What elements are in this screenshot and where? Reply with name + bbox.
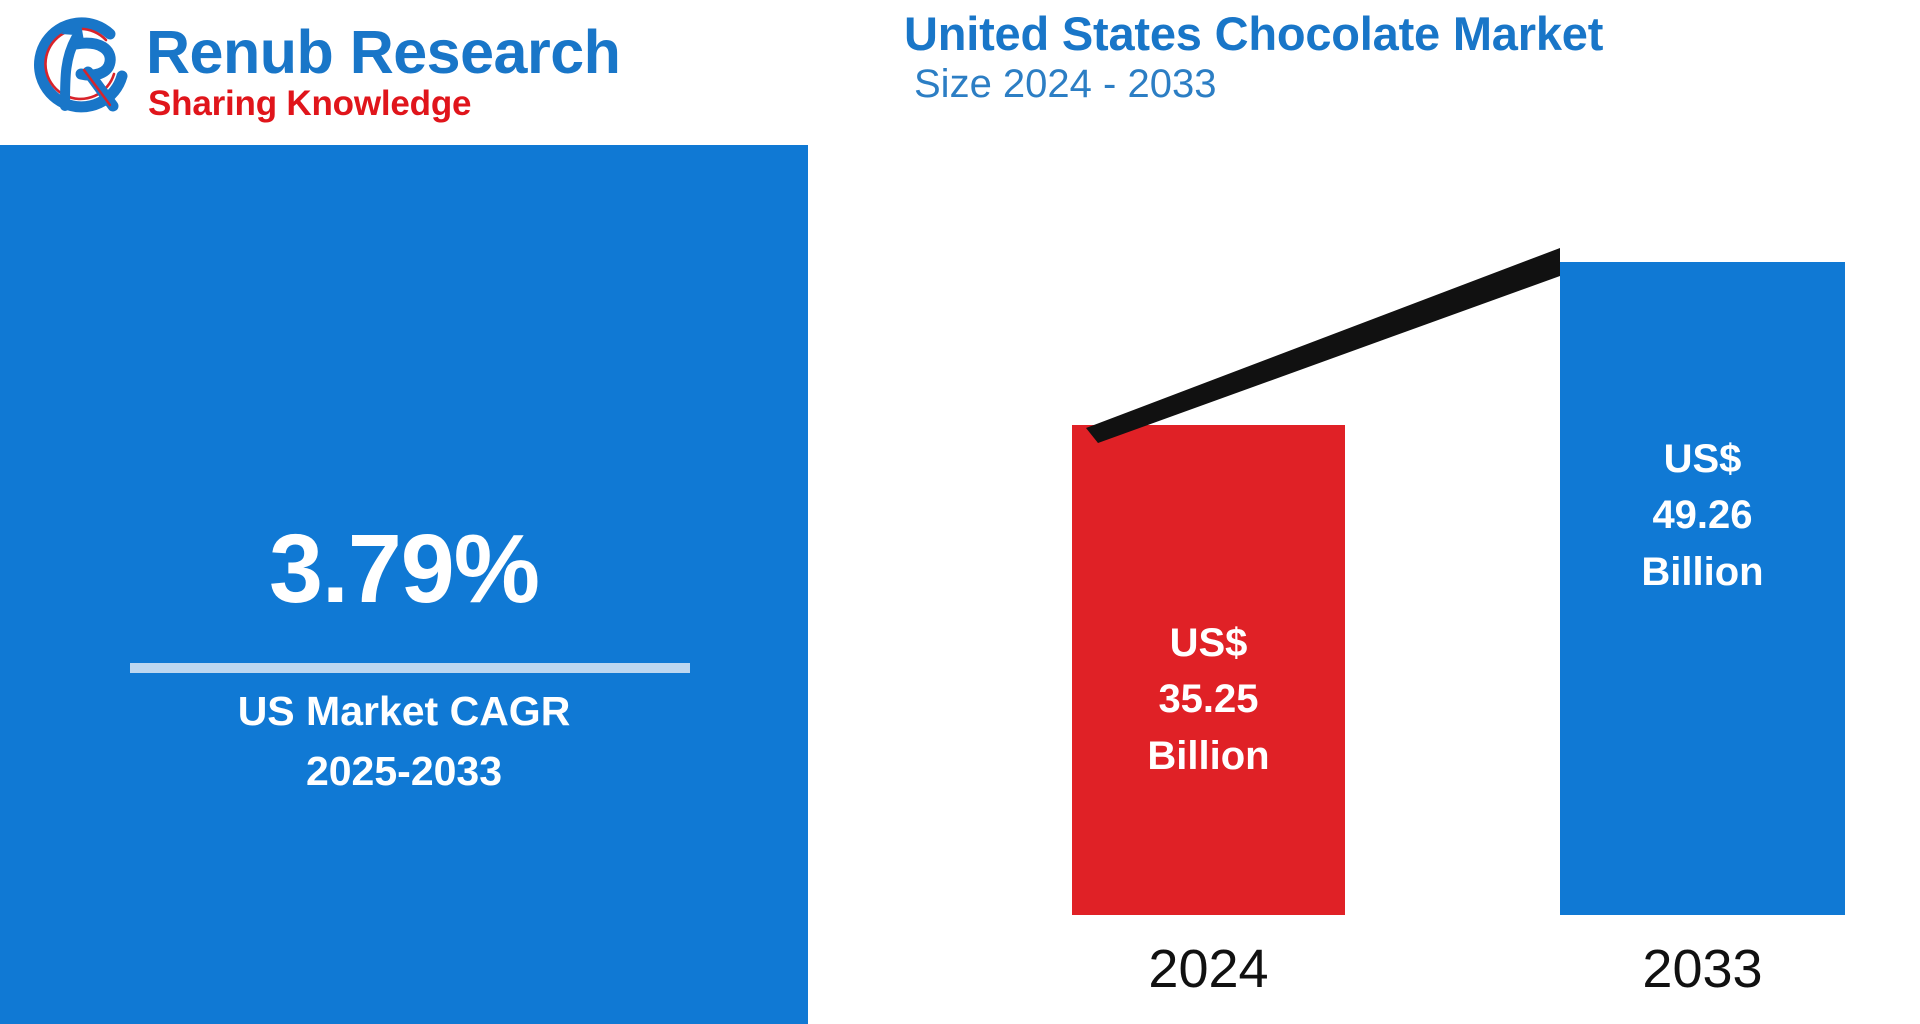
bar-2024-scale: Billion [1147,728,1269,785]
bar-chart-plot: US$ 35.25 Billion US$ 49.26 Billion 2024 [808,0,1920,1024]
bar-2033: US$ 49.26 Billion [1560,262,1845,915]
bar-2024-currency: US$ [1147,615,1269,672]
bar-2033-value-label: US$ 49.26 Billion [1641,431,1763,601]
x-axis-label-2024: 2024 [1072,942,1345,996]
brand-wordmark: Renub Research Sharing Knowledge [146,20,620,121]
bar-2024-value-label: US$ 35.25 Billion [1147,615,1269,785]
cagr-label-period: 2025-2033 [0,746,808,796]
cagr-panel-content: 3.79% US Market CAGR 2025-2033 Source: w… [0,145,808,1024]
cagr-label-primary: US Market CAGR [0,686,808,736]
bar-2024: US$ 35.25 Billion [1072,425,1345,915]
bar-2024-amount: 35.25 [1147,671,1269,728]
cagr-divider [130,663,690,673]
bar-2033-scale: Billion [1641,544,1763,601]
cagr-value: 3.79% [0,520,808,617]
bar-2033-currency: US$ [1641,431,1763,488]
renub-r-arrow-logo-icon [18,14,136,126]
brand-logo: Renub Research Sharing Knowledge [18,0,658,140]
x-axis-label-2033: 2033 [1560,942,1845,996]
chart-area: United States Chocolate Market Size 2024… [808,0,1920,1024]
cagr-panel: 3.79% US Market CAGR 2025-2033 Source: w… [0,145,808,1024]
bar-2033-amount: 49.26 [1641,487,1763,544]
brand-name: Renub Research [146,22,620,83]
infographic-canvas: Renub Research Sharing Knowledge 3.79% U… [0,0,1920,1024]
brand-tagline: Sharing Knowledge [148,86,620,121]
